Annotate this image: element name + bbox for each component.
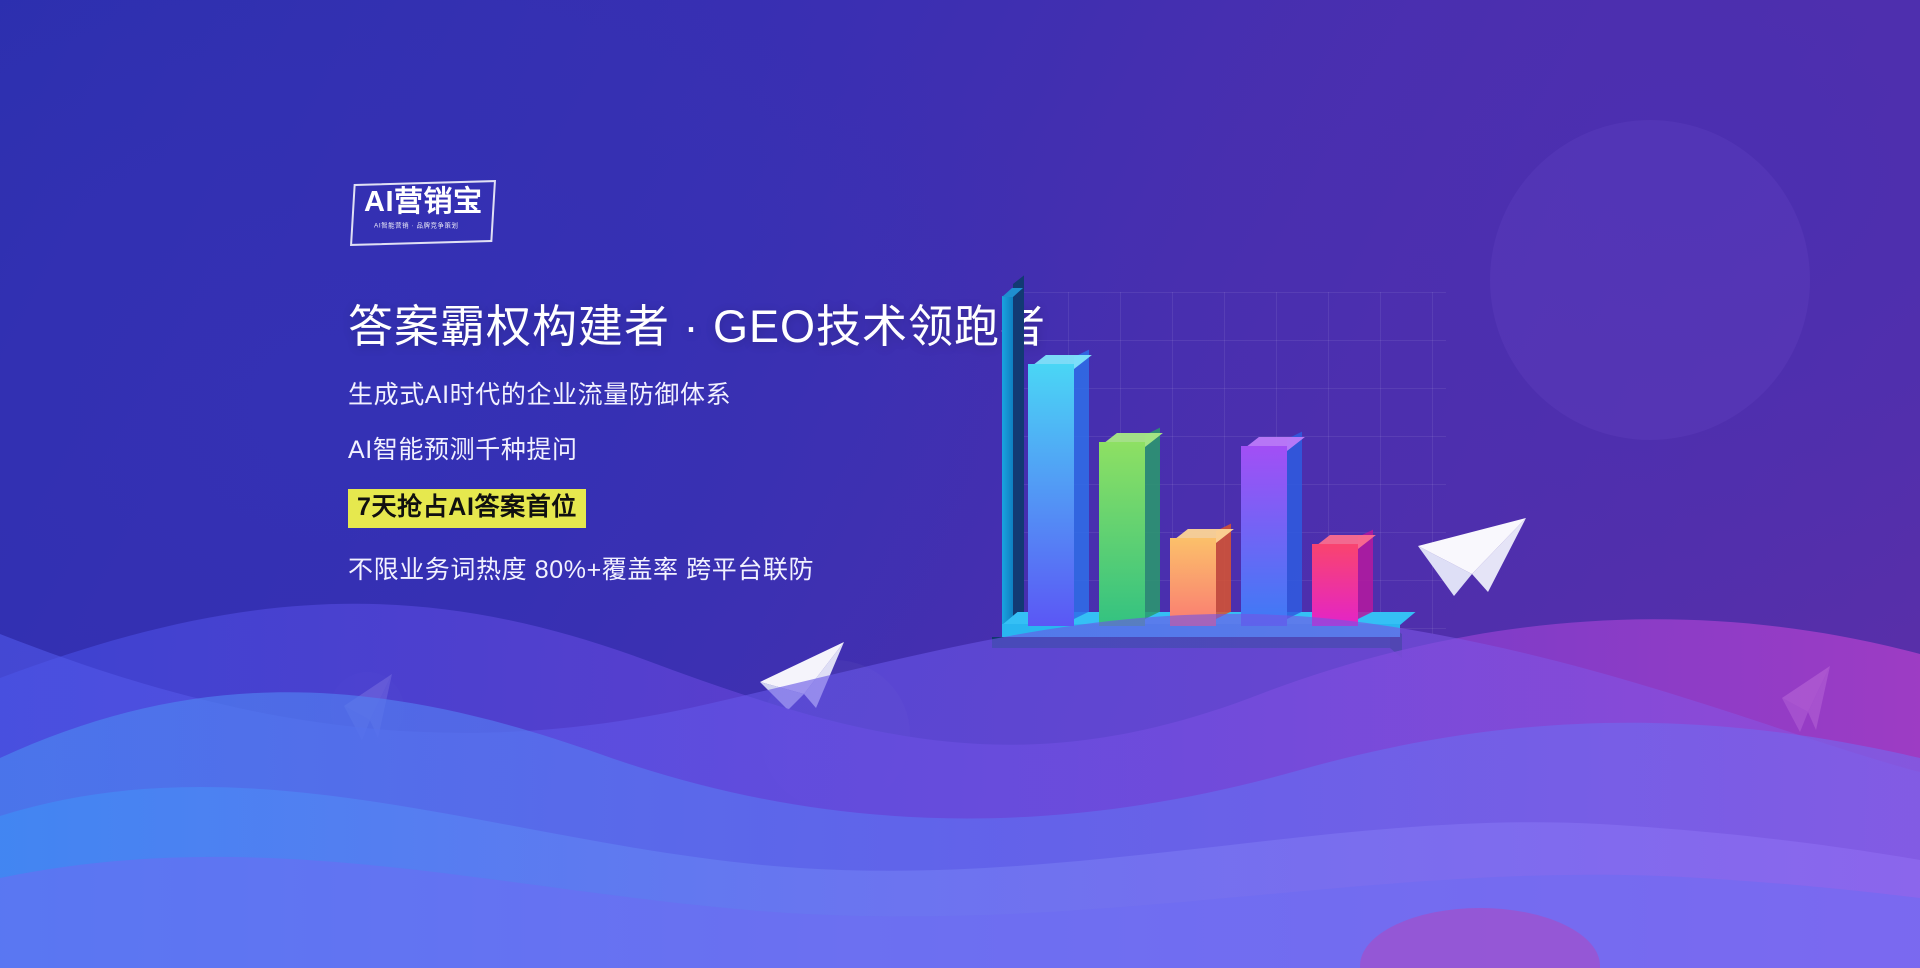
logo-text: AI营销宝 [364, 188, 499, 217]
hero-subline-1: 生成式AI时代的企业流量防御体系 [348, 383, 1048, 408]
brand-logo[interactable]: AI营销宝 AI智能营销 · 品牌竞争策划 [352, 182, 500, 244]
hero-banner: AI营销宝 AI智能营销 · 品牌竞争策划 答案霸权构建者 · GEO技术领跑者… [0, 0, 1920, 968]
logo-subtitle: AI智能营销 · 品牌竞争策划 [374, 221, 484, 230]
page-title: 答案霸权构建者 · GEO技术领跑者 [348, 300, 1048, 353]
hero-highlight-badge: 7天抢占AI答案首位 [348, 489, 586, 528]
hero-copy: 答案霸权构建者 · GEO技术领跑者 生成式AI时代的企业流量防御体系 AI智能… [348, 300, 1048, 583]
hero-highlight-wrap: 7天抢占AI答案首位 [348, 463, 1048, 528]
glow-circle-decoration [1490, 120, 1810, 440]
wave-decoration [0, 548, 1920, 968]
hero-subline-2: AI智能预测千种提问 [348, 438, 1048, 463]
